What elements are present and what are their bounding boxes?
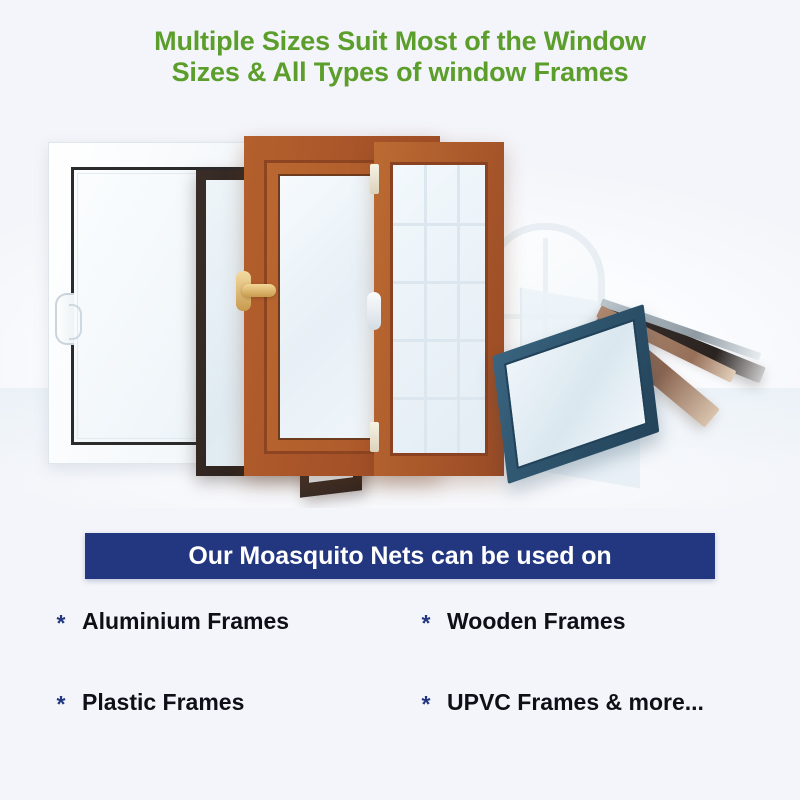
- asterisk-icon: *: [405, 689, 447, 716]
- muntin-horizontal: [393, 223, 485, 226]
- list-item: * Plastic Frames: [40, 689, 405, 716]
- hinge-icon: [370, 164, 379, 194]
- wooden-window-right-glass: [390, 162, 488, 456]
- muntin-horizontal: [393, 397, 485, 400]
- muntin-horizontal: [393, 281, 485, 284]
- asterisk-icon: *: [40, 608, 82, 635]
- list-item: * Aluminium Frames: [40, 608, 405, 635]
- muntin-vertical: [424, 165, 427, 453]
- muntin-horizontal: [393, 339, 485, 342]
- usage-banner: Our Moasquito Nets can be used on: [85, 533, 715, 579]
- usage-banner-text: Our Moasquito Nets can be used on: [188, 542, 611, 571]
- hinge-icon: [370, 422, 379, 452]
- frame-types-list: * Aluminium Frames * Wooden Frames * Pla…: [40, 608, 770, 716]
- frame-type-label: Aluminium Frames: [82, 608, 289, 635]
- frame-type-label: Plastic Frames: [82, 689, 244, 716]
- promo-banner-page: Multiple Sizes Suit Most of the Window S…: [0, 0, 800, 800]
- product-image: [0, 108, 800, 508]
- list-item: * UPVC Frames & more...: [405, 689, 770, 716]
- muntin-vertical: [457, 165, 460, 453]
- sliding-door-handle-icon: [55, 293, 74, 345]
- page-title: Multiple Sizes Suit Most of the Window S…: [0, 26, 800, 88]
- white-window-handle-icon: [367, 292, 381, 330]
- list-item: * Wooden Frames: [405, 608, 770, 635]
- page-title-line-1: Multiple Sizes Suit Most of the Window: [0, 26, 800, 57]
- frame-type-label: UPVC Frames & more...: [447, 689, 704, 716]
- asterisk-icon: *: [405, 608, 447, 635]
- gold-window-handle-icon: [242, 284, 276, 297]
- frame-type-label: Wooden Frames: [447, 608, 626, 635]
- page-title-line-2: Sizes & All Types of window Frames: [0, 57, 800, 88]
- wooden-casement-window-right: [374, 142, 504, 476]
- asterisk-icon: *: [40, 689, 82, 716]
